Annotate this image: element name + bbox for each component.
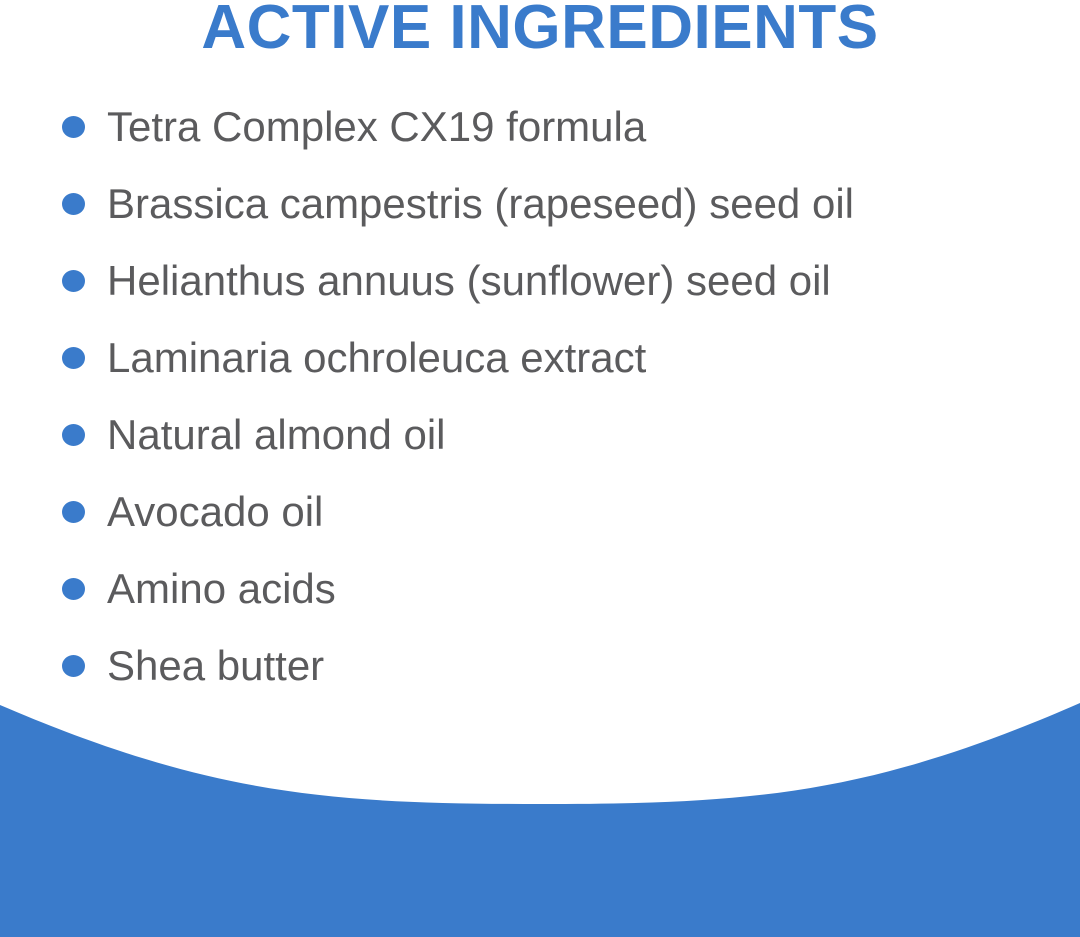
ingredient-label: Amino acids [107,568,336,610]
ingredient-label: Avocado oil [107,491,323,533]
bullet-dot-icon [62,501,85,523]
bullet-dot-icon [62,270,85,292]
ingredient-list: Tetra Complex CX19 formula Brassica camp… [0,88,1080,704]
list-item: Brassica campestris (rapeseed) seed oil [0,165,1080,242]
ingredient-label: Brassica campestris (rapeseed) seed oil [107,183,854,225]
list-item: Laminaria ochroleuca extract [0,319,1080,396]
wave-shape-icon [0,677,1080,937]
active-ingredients-panel: ACTIVE INGREDIENTS Tetra Complex CX19 fo… [0,0,1080,937]
list-item: Tetra Complex CX19 formula [0,88,1080,165]
list-item: Avocado oil [0,473,1080,550]
ingredient-label: Helianthus annuus (sunflower) seed oil [107,260,831,302]
ingredient-label: Natural almond oil [107,414,446,456]
list-item: Natural almond oil [0,396,1080,473]
bullet-dot-icon [62,347,85,369]
bullet-dot-icon [62,655,85,677]
bullet-dot-icon [62,116,85,138]
bullet-dot-icon [62,578,85,600]
page-title: ACTIVE INGREDIENTS [0,0,1080,62]
bullet-dot-icon [62,193,85,215]
ingredient-label: Laminaria ochroleuca extract [107,337,646,379]
list-item: Amino acids [0,550,1080,627]
ingredient-label: Tetra Complex CX19 formula [107,106,646,148]
bottom-wave-decoration [0,677,1080,937]
bullet-dot-icon [62,424,85,446]
list-item: Helianthus annuus (sunflower) seed oil [0,242,1080,319]
